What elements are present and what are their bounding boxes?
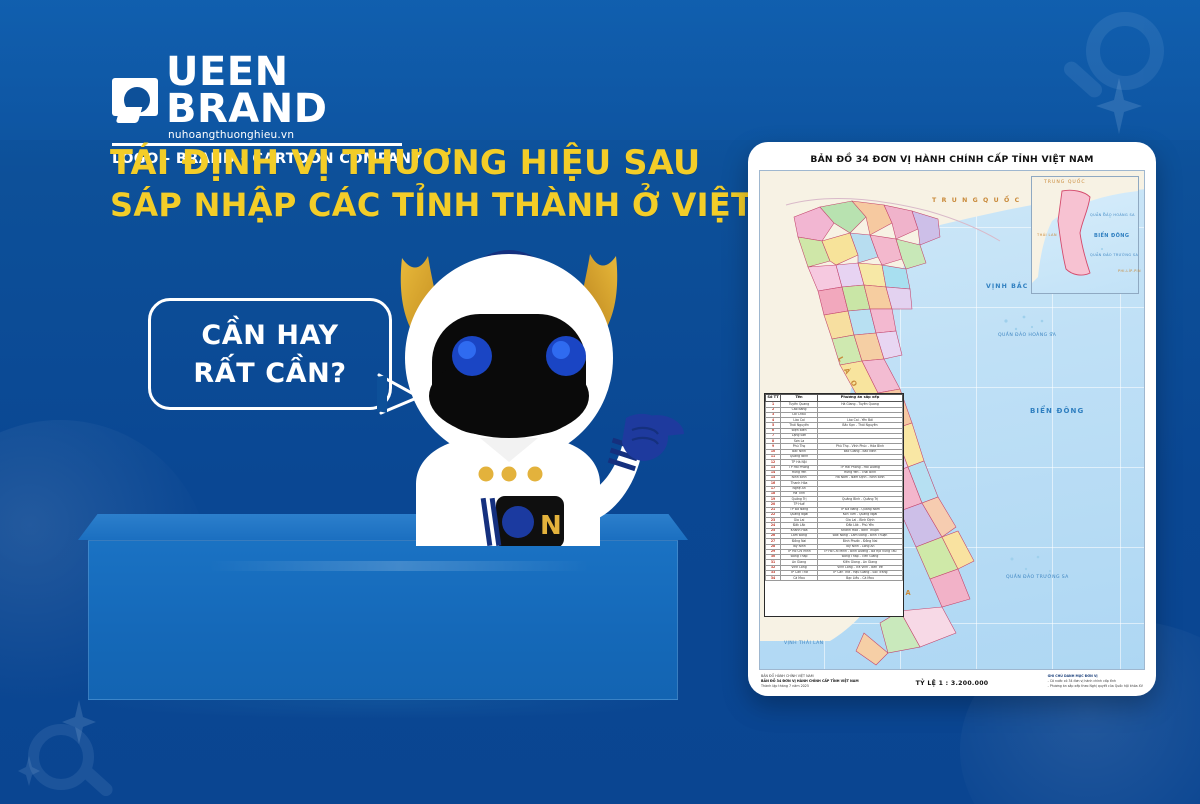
table-cell-no: 34 (766, 576, 781, 581)
inset-label-east-sea: BIỂN ĐÔNG (1094, 233, 1129, 239)
vietnam-map-card[interactable]: BẢN ĐỒ 34 ĐƠN VỊ HÀNH CHÍNH CẤP TỈNH VIỆ… (748, 142, 1156, 696)
map-canvas: T R U N G Q U Ố C L À O C A M P U C H I … (759, 170, 1145, 670)
bubble-line-2: RẤT CẦN? (193, 358, 346, 389)
map-footer: BẢN ĐỒ HÀNH CHÍNH VIỆT NAM BẢN ĐỒ 34 ĐƠN… (759, 673, 1145, 705)
table-row: 34Cà MauBạc Liêu - Cà Mau (766, 576, 903, 581)
table-body: 1Tuyên QuangHà Giang - Tuyên Quang2Cao B… (766, 402, 903, 581)
inset-label-hoang-sa: QUẦN ĐẢO HOÀNG SA (1090, 213, 1135, 217)
map-footer-right: GHI CHÚ DANH MỤC ĐƠN VỊ - Cả nước có 34 … (1048, 674, 1143, 689)
table-cell-name: Cà Mau (781, 576, 818, 581)
table-cell-plan: Bạc Liêu - Cà Mau (818, 576, 903, 581)
brand-url: nuhoangthuonghieu.vn (168, 129, 402, 141)
mascot-chest-letter: N (540, 511, 562, 541)
map-label-east-sea: BIỂN ĐÔNG (1030, 407, 1084, 415)
headline-line-1: TÁI ĐỊNH VỊ THƯƠNG HIỆU SAU (110, 142, 750, 185)
bubble-line-1: CẦN HAY (201, 320, 338, 351)
map-title: BẢN ĐỒ 34 ĐƠN VỊ HÀNH CHÍNH CẤP TỈNH VIỆ… (759, 154, 1145, 165)
table-header-no: Số TT (766, 395, 781, 402)
map-label-china: T R U N G Q U Ố C (932, 197, 1021, 204)
table-header-plan: Phương án sắp xếp (818, 395, 903, 402)
map-label-hoang-sa: QUẦN ĐẢO HOÀNG SA (998, 333, 1056, 338)
podium-face (88, 540, 678, 700)
poster-canvas: UEEN BRAND nuhoangthuonghieu.vn LOGO - B… (0, 0, 1200, 804)
table-header-row: Số TT Tên Phương án sắp xếp (766, 395, 903, 402)
speech-bubble: CẦN HAY RẤT CẦN? (148, 298, 392, 410)
footer-right-line-3: - Phương án sắp xếp theo Nghị quyết của … (1048, 684, 1143, 689)
speech-bubble-q-icon (112, 78, 160, 126)
east-sea-islands (1004, 316, 1053, 572)
mascot-button-1 (479, 467, 494, 482)
inset-label-thailand: THÁI LAN (1037, 233, 1057, 237)
table: Số TT Tên Phương án sắp xếp 1Tuyên Quang… (765, 394, 903, 581)
brand-wordmark: UEEN BRAND (166, 54, 402, 128)
map-inset: TRUNG QUỐC BIỂN ĐÔNG QUẦN ĐẢO HOÀNG SA Q… (1031, 176, 1139, 294)
headline-line-2: SÁP NHẬP CÁC TỈNH THÀNH Ở VIỆT NAM? (110, 185, 750, 226)
sparkle-icon-topright (1096, 78, 1142, 134)
table-header-name: Tên (781, 395, 818, 402)
mascot-button-2 (502, 467, 517, 482)
map-label-gulf-thailand: VỊNH THÁI LAN (784, 641, 824, 646)
sparkle-icon-bottomleft-small (18, 756, 40, 786)
podium-desk (78, 514, 688, 728)
inset-label-philippines: PHI-LÍP-PIN (1118, 269, 1141, 273)
mascot-button-3 (528, 467, 543, 482)
inset-label-truong-sa: QUẦN ĐẢO TRƯỜNG SA (1090, 253, 1138, 257)
map-label-truong-sa: QUẦN ĐẢO TRƯỜNG SA (1006, 575, 1069, 580)
queen-brand-mascot: N (388, 246, 688, 546)
province-merge-table[interactable]: Số TT Tên Phương án sắp xếp 1Tuyên Quang… (764, 393, 904, 617)
podium-shadow (70, 698, 696, 720)
page-title: TÁI ĐỊNH VỊ THƯƠNG HIỆU SAU SÁP NHẬP CÁC… (110, 142, 750, 226)
inset-label-china: TRUNG QUỐC (1044, 180, 1086, 185)
